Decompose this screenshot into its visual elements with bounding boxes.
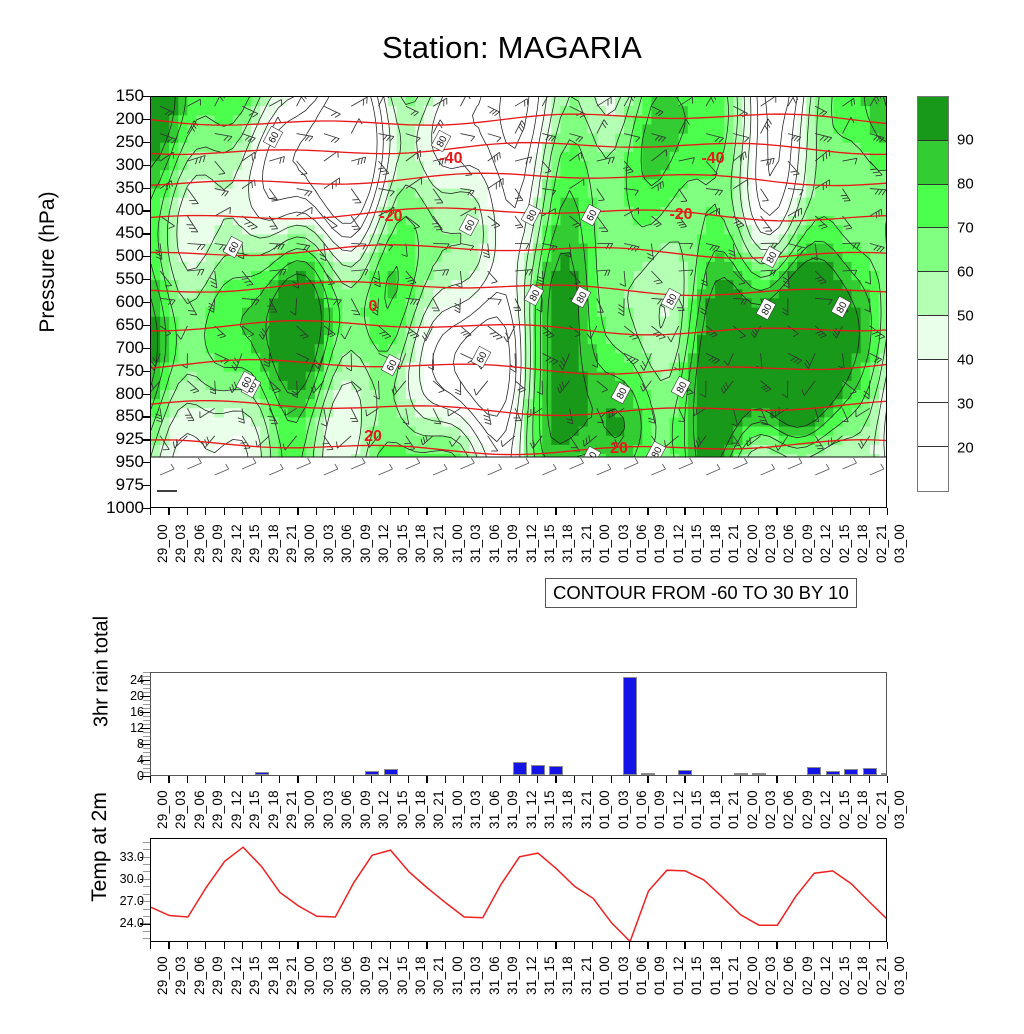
xaxis-tick: [611, 776, 612, 783]
main-xaxis-ticks: [150, 508, 887, 515]
xaxis-tick: [482, 942, 483, 949]
xaxis-tick-label: 29_15: [247, 956, 262, 995]
xaxis-tick-label: 01_00: [597, 790, 612, 829]
xaxis-tick-label: 31_09: [505, 956, 520, 995]
xaxis-tick: [666, 776, 667, 783]
xaxis-tick: [500, 942, 501, 949]
xaxis-tick: [758, 508, 759, 515]
xaxis-tick-label: 30_12: [376, 790, 391, 829]
yaxis-tick-label: 16: [102, 705, 144, 719]
xaxis-tick: [316, 776, 317, 783]
xaxis-tick-label: 31_18: [560, 790, 575, 829]
xaxis-tick: [684, 942, 685, 949]
xaxis-tick-label: 31_00: [450, 524, 465, 563]
xaxis-tick: [813, 776, 814, 783]
xaxis-tick-label: 31_21: [579, 956, 594, 995]
xaxis-tick: [555, 942, 556, 949]
xaxis-tick: [721, 942, 722, 949]
xaxis-tick: [887, 508, 888, 515]
xaxis-tick: [887, 776, 888, 783]
xaxis-tick-label: 01_12: [671, 956, 686, 995]
yaxis-tick-label: 350: [84, 178, 144, 198]
xaxis-tick-label: 29_21: [284, 956, 299, 995]
xaxis-tick: [703, 776, 704, 783]
xaxis-tick-label: 01_12: [671, 524, 686, 563]
xaxis-tick: [150, 508, 151, 515]
xaxis-tick-label: 29_09: [210, 790, 225, 829]
xaxis-tick: [316, 942, 317, 949]
xaxis-tick: [205, 508, 206, 515]
colorbar-tick-label: 80: [957, 176, 974, 193]
yaxis-tick: [143, 439, 150, 440]
xaxis-tick: [647, 776, 648, 783]
xaxis-tick: [224, 942, 225, 949]
xaxis-tick: [574, 942, 575, 949]
xaxis-tick-label: 29_00: [155, 956, 170, 995]
xaxis-tick-label: 29_06: [192, 524, 207, 563]
colorbar-tick-label: 50: [957, 308, 974, 325]
xaxis-tick-label: 02_06: [781, 956, 796, 995]
xaxis-tick-label: 01_18: [708, 524, 723, 563]
rain-bar[interactable]: [844, 769, 858, 775]
xaxis-tick-label: 01_15: [689, 790, 704, 829]
xaxis-tick: [758, 776, 759, 783]
xaxis-tick: [371, 942, 372, 949]
rain-bar[interactable]: [641, 773, 655, 775]
xaxis-tick-label: 01_03: [616, 790, 631, 829]
xaxis-tick-label: 31_12: [524, 524, 539, 563]
xaxis-tick: [795, 776, 796, 783]
xaxis-tick-label: 01_03: [616, 524, 631, 563]
cross-section-plot[interactable]: -40-40-20-200020206080806060606060808080…: [150, 96, 887, 508]
yaxis-tick: [143, 279, 150, 280]
colorbar-tick-label: 40: [957, 352, 974, 369]
yaxis-tick: [143, 371, 150, 372]
xaxis-tick: [555, 508, 556, 515]
rain-bar[interactable]: [531, 765, 545, 775]
xaxis-tick-label: 29_03: [173, 524, 188, 563]
xaxis-tick-label: 30_06: [339, 524, 354, 563]
xaxis-tick: [795, 942, 796, 949]
xaxis-tick-label: 29_18: [266, 524, 281, 563]
xaxis-tick: [187, 508, 188, 515]
xaxis-tick: [482, 776, 483, 783]
xaxis-tick: [168, 942, 169, 949]
xaxis-tick: [482, 508, 483, 515]
xaxis-tick: [519, 942, 520, 949]
xaxis-tick: [647, 942, 648, 949]
colorbar-tick-label: 20: [957, 440, 974, 457]
xaxis-tick-label: 02_09: [800, 790, 815, 829]
xaxis-tick-label: 30_03: [321, 956, 336, 995]
xaxis-tick-label: 01_06: [634, 790, 649, 829]
xaxis-tick: [592, 508, 593, 515]
xaxis-tick-label: 31_21: [579, 790, 594, 829]
xaxis-tick-label: 31_15: [542, 524, 557, 563]
xaxis-tick-label: 31_09: [505, 790, 520, 829]
colorbar-tick-label: 90: [957, 132, 974, 149]
yaxis-tick-label: 800: [84, 384, 144, 404]
colorbar-tick-label: 30: [957, 396, 974, 413]
xaxis-tick: [740, 776, 741, 783]
xaxis-tick-label: 02_06: [781, 524, 796, 563]
xaxis-tick-label: 29_12: [229, 790, 244, 829]
xaxis-tick-label: 02_21: [874, 956, 889, 995]
xaxis-tick: [813, 508, 814, 515]
xaxis-tick: [629, 776, 630, 783]
xaxis-tick: [869, 942, 870, 949]
xaxis-tick-label: 30_00: [302, 790, 317, 829]
xaxis-tick: [574, 508, 575, 515]
xaxis-tick: [224, 776, 225, 783]
main-yaxis-labels: 1502002503003504004505005506006507007508…: [78, 96, 144, 508]
xaxis-tick: [555, 776, 556, 783]
xaxis-tick-label: 30_06: [339, 956, 354, 995]
xaxis-tick: [426, 942, 427, 949]
xaxis-tick-label: 31_21: [579, 524, 594, 563]
xaxis-tick: [537, 776, 538, 783]
xaxis-tick-label: 29_18: [266, 790, 281, 829]
rain-bar[interactable]: [807, 767, 821, 775]
xaxis-tick-label: 02_18: [855, 790, 870, 829]
xaxis-tick: [537, 942, 538, 949]
xaxis-tick: [205, 776, 206, 783]
xaxis-tick: [740, 508, 741, 515]
xaxis-tick-label: 31_06: [487, 790, 502, 829]
yaxis-tick: [143, 233, 150, 234]
xaxis-tick: [297, 508, 298, 515]
colorbar-tick-label: 70: [957, 220, 974, 237]
xaxis-tick: [242, 942, 243, 949]
xaxis-tick: [721, 776, 722, 783]
xaxis-tick-label: 30_15: [395, 524, 410, 563]
yaxis-tick: [143, 485, 150, 486]
xaxis-tick: [408, 942, 409, 949]
xaxis-tick-label: 29_06: [192, 790, 207, 829]
yaxis-tick-label: 300: [84, 155, 144, 175]
rain-xaxis-ticks: [150, 776, 887, 783]
yaxis-tick: [143, 119, 150, 120]
xaxis-tick: [703, 942, 704, 949]
xaxis-tick: [261, 508, 262, 515]
yaxis-tick-label: 600: [84, 292, 144, 312]
xaxis-tick: [390, 508, 391, 515]
yaxis-tick-label: 750: [84, 361, 144, 381]
xaxis-tick-label: 01_06: [634, 956, 649, 995]
xaxis-tick: [297, 942, 298, 949]
yaxis-tick: [143, 325, 150, 326]
xaxis-tick: [850, 776, 851, 783]
xaxis-tick-label: 30_00: [302, 956, 317, 995]
xaxis-tick: [519, 508, 520, 515]
xaxis-tick: [187, 942, 188, 949]
xaxis-tick: [297, 776, 298, 783]
xaxis-tick: [869, 508, 870, 515]
xaxis-tick: [850, 942, 851, 949]
xaxis-tick: [795, 508, 796, 515]
rain-bar[interactable]: [623, 677, 637, 775]
rain-bar[interactable]: [365, 771, 379, 775]
yaxis-tick: [143, 302, 150, 303]
xaxis-tick-label: 01_09: [652, 524, 667, 563]
yaxis-tick-label: 24: [102, 673, 144, 687]
xaxis-tick-label: 30_21: [431, 956, 446, 995]
yaxis-tick-label: 1000: [84, 498, 144, 518]
xaxis-tick: [776, 508, 777, 515]
xaxis-tick: [445, 942, 446, 949]
xaxis-tick: [463, 508, 464, 515]
xaxis-tick-label: 03_00: [892, 790, 907, 829]
xaxis-tick: [463, 776, 464, 783]
xaxis-tick-label: 01_18: [708, 790, 723, 829]
xaxis-tick-label: 01_00: [597, 956, 612, 995]
yaxis-tick: [143, 508, 150, 509]
xaxis-tick-label: 02_18: [855, 524, 870, 563]
rain-bar[interactable]: [678, 770, 692, 775]
xaxis-tick-label: 29_21: [284, 524, 299, 563]
temperature-line-chart[interactable]: [150, 838, 887, 942]
xaxis-tick: [168, 508, 169, 515]
xaxis-tick: [371, 776, 372, 783]
xaxis-tick-label: 02_12: [818, 524, 833, 563]
xaxis-tick: [758, 942, 759, 949]
xaxis-tick-label: 29_09: [210, 524, 225, 563]
xaxis-tick-label: 29_00: [155, 790, 170, 829]
yaxis-tick-label: 925: [84, 429, 144, 449]
yaxis-tick: [143, 462, 150, 463]
yaxis-tick-label: 33.0: [94, 850, 144, 864]
yaxis-tick: [143, 256, 150, 257]
xaxis-tick-label: 30_15: [395, 956, 410, 995]
xaxis-tick-label: 02_12: [818, 790, 833, 829]
xaxis-tick: [776, 942, 777, 949]
xaxis-tick: [850, 508, 851, 515]
xaxis-tick-label: 02_09: [800, 956, 815, 995]
rain-bar-chart[interactable]: [150, 672, 887, 776]
xaxis-tick: [776, 776, 777, 783]
xaxis-tick-label: 01_00: [597, 524, 612, 563]
xaxis-tick: [500, 776, 501, 783]
yaxis-tick: [143, 348, 150, 349]
xaxis-tick-label: 29_03: [173, 956, 188, 995]
xaxis-tick-label: 29_21: [284, 790, 299, 829]
xaxis-tick: [574, 776, 575, 783]
xaxis-tick: [390, 776, 391, 783]
rain-bar[interactable]: [881, 773, 887, 775]
xaxis-tick-label: 01_09: [652, 956, 667, 995]
xaxis-tick: [426, 508, 427, 515]
xaxis-tick: [408, 508, 409, 515]
xaxis-tick-label: 30_09: [358, 956, 373, 995]
xaxis-tick-label: 30_15: [395, 790, 410, 829]
xaxis-tick: [242, 508, 243, 515]
xaxis-tick: [334, 776, 335, 783]
xaxis-tick: [279, 508, 280, 515]
xaxis-tick-label: 01_15: [689, 956, 704, 995]
xaxis-tick-label: 01_18: [708, 956, 723, 995]
temp-xaxis-labels: 29_0029_0329_0629_0929_1229_1529_1829_21…: [150, 956, 887, 1034]
colorbar-tick-labels: 9080706050403020: [917, 96, 1007, 492]
yaxis-tick-label: 950: [84, 452, 144, 472]
yaxis-tick: [143, 188, 150, 189]
yaxis-tick-label: 400: [84, 200, 144, 220]
rain-bar[interactable]: [734, 773, 748, 775]
xaxis-tick: [832, 776, 833, 783]
xaxis-tick-label: 02_00: [745, 790, 760, 829]
xaxis-tick-label: 03_00: [892, 956, 907, 995]
yaxis-tick: [143, 210, 150, 211]
xaxis-tick: [242, 776, 243, 783]
yaxis-tick: [143, 165, 150, 166]
xaxis-tick-label: 29_12: [229, 956, 244, 995]
temp-xaxis-ticks: [150, 942, 887, 949]
xaxis-tick-label: 30_00: [302, 524, 317, 563]
xaxis-tick-label: 02_18: [855, 956, 870, 995]
rain-bar[interactable]: [255, 772, 269, 775]
xaxis-tick: [353, 776, 354, 783]
yaxis-tick: [143, 96, 150, 97]
xaxis-tick-label: 29_06: [192, 956, 207, 995]
yaxis-tick: [143, 394, 150, 395]
rain-bar[interactable]: [384, 769, 398, 775]
xaxis-tick-label: 02_00: [745, 956, 760, 995]
xaxis-tick: [740, 942, 741, 949]
xaxis-tick: [426, 776, 427, 783]
rain-bar[interactable]: [863, 768, 877, 775]
xaxis-tick: [150, 942, 151, 949]
xaxis-tick-label: 29_15: [247, 524, 262, 563]
xaxis-tick: [445, 776, 446, 783]
yaxis-tick: [143, 142, 150, 143]
yaxis-tick-label: 550: [84, 269, 144, 289]
xaxis-tick-label: 01_15: [689, 524, 704, 563]
xaxis-tick: [629, 942, 630, 949]
xaxis-tick-label: 30_09: [358, 524, 373, 563]
yaxis-tick-label: 850: [84, 406, 144, 426]
yaxis-tick-label: 975: [84, 475, 144, 495]
xaxis-tick: [721, 508, 722, 515]
xaxis-tick: [334, 508, 335, 515]
yaxis-tick-label: 200: [84, 109, 144, 129]
xaxis-tick-label: 01_03: [616, 956, 631, 995]
xaxis-tick-label: 02_00: [745, 524, 760, 563]
xaxis-tick-label: 02_03: [763, 956, 778, 995]
xaxis-tick: [592, 942, 593, 949]
xaxis-tick: [592, 776, 593, 783]
xaxis-tick-label: 01_06: [634, 524, 649, 563]
yaxis-tick: [143, 416, 150, 417]
rain-bar[interactable]: [826, 771, 840, 775]
xaxis-tick: [316, 508, 317, 515]
xaxis-tick: [666, 508, 667, 515]
xaxis-tick: [703, 508, 704, 515]
xaxis-tick-label: 31_03: [468, 524, 483, 563]
xaxis-tick-label: 02_15: [837, 524, 852, 563]
xaxis-tick: [334, 942, 335, 949]
xaxis-tick: [887, 942, 888, 949]
xaxis-tick-label: 29_03: [173, 790, 188, 829]
xaxis-tick-label: 30_12: [376, 524, 391, 563]
xaxis-tick-label: 02_03: [763, 790, 778, 829]
rain-bar[interactable]: [752, 773, 766, 775]
xaxis-tick-label: 03_00: [892, 524, 907, 563]
xaxis-tick-label: 31_15: [542, 790, 557, 829]
xaxis-tick: [371, 508, 372, 515]
xaxis-tick: [684, 508, 685, 515]
rain-bar[interactable]: [513, 762, 527, 775]
xaxis-tick-label: 30_18: [413, 790, 428, 829]
xaxis-tick: [150, 776, 151, 783]
temperature-svg: [151, 839, 887, 942]
xaxis-tick: [353, 942, 354, 949]
rain-bar[interactable]: [549, 766, 563, 775]
xaxis-tick: [205, 942, 206, 949]
xaxis-tick-label: 30_03: [321, 524, 336, 563]
xaxis-tick-label: 31_00: [450, 790, 465, 829]
xaxis-tick-label: 29_09: [210, 956, 225, 995]
xaxis-tick-label: 29_15: [247, 790, 262, 829]
xaxis-tick-label: 02_21: [874, 524, 889, 563]
xaxis-tick-label: 31_06: [487, 524, 502, 563]
xaxis-tick: [445, 508, 446, 515]
yaxis-tick-label: 30.0: [94, 872, 144, 886]
xaxis-tick-label: 31_09: [505, 524, 520, 563]
xaxis-tick: [187, 776, 188, 783]
xaxis-tick: [261, 776, 262, 783]
xaxis-tick-label: 31_12: [524, 790, 539, 829]
xaxis-tick-label: 30_18: [413, 956, 428, 995]
xaxis-tick-label: 01_21: [726, 956, 741, 995]
xaxis-tick-label: 01_12: [671, 790, 686, 829]
xaxis-tick: [168, 776, 169, 783]
yaxis-tick-label: 27.0: [94, 894, 144, 908]
temp-yaxis-labels: 33.030.027.024.0: [92, 838, 144, 942]
xaxis-tick-label: 02_09: [800, 524, 815, 563]
xaxis-tick-label: 02_21: [874, 790, 889, 829]
yaxis-tick-label: 150: [84, 86, 144, 106]
main-yaxis-title: Pressure (hPa): [36, 152, 60, 372]
xaxis-tick: [611, 508, 612, 515]
xaxis-tick-label: 01_09: [652, 790, 667, 829]
contour-note: CONTOUR FROM -60 TO 30 BY 10: [545, 578, 857, 608]
xaxis-tick: [224, 508, 225, 515]
colorbar-tick-label: 60: [957, 264, 974, 281]
xaxis-tick-label: 31_12: [524, 956, 539, 995]
xaxis-tick-label: 29_18: [266, 956, 281, 995]
xaxis-tick-label: 31_18: [560, 524, 575, 563]
xaxis-tick: [353, 508, 354, 515]
xaxis-tick-label: 01_21: [726, 524, 741, 563]
xaxis-tick-label: 29_00: [155, 524, 170, 563]
xaxis-tick: [684, 776, 685, 783]
cross-section-svg: -40-40-20-200020206080806060606060808080…: [151, 97, 887, 508]
xaxis-tick-label: 02_15: [837, 790, 852, 829]
xaxis-tick: [408, 776, 409, 783]
xaxis-tick-label: 02_06: [781, 790, 796, 829]
xaxis-tick: [390, 942, 391, 949]
xaxis-tick: [832, 942, 833, 949]
xaxis-tick-label: 31_06: [487, 956, 502, 995]
xaxis-tick: [537, 508, 538, 515]
xaxis-tick-label: 31_18: [560, 956, 575, 995]
xaxis-tick-label: 31_15: [542, 956, 557, 995]
xaxis-tick-label: 31_00: [450, 956, 465, 995]
xaxis-tick-label: 02_15: [837, 956, 852, 995]
xaxis-tick: [611, 942, 612, 949]
xaxis-tick: [500, 508, 501, 515]
yaxis-tick-label: 500: [84, 246, 144, 266]
xaxis-tick-label: 30_12: [376, 956, 391, 995]
